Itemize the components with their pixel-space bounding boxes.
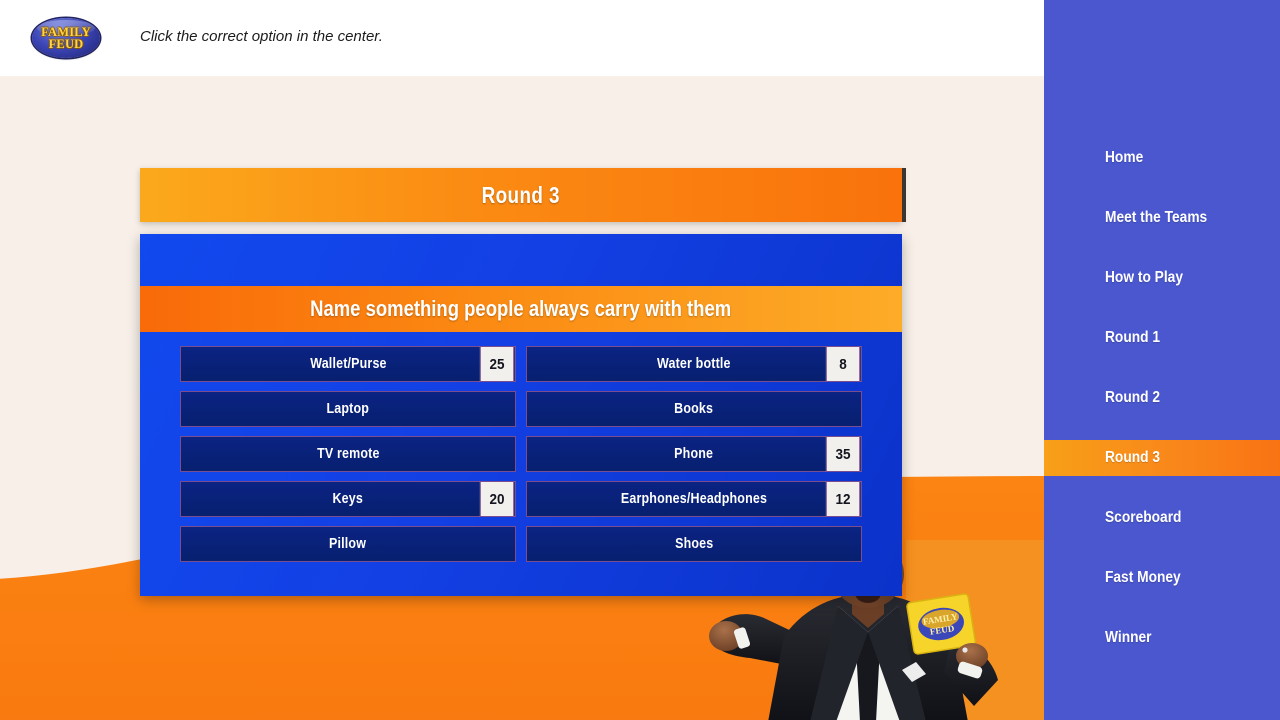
answer-label: Water bottle — [657, 356, 731, 372]
answer-score: 8 — [826, 346, 860, 382]
sidebar-gap — [1044, 236, 1280, 260]
answer-label: TV remote — [317, 446, 380, 462]
sidebar-item-scoreboard[interactable]: Scoreboard — [1044, 500, 1280, 536]
answer-score: 25 — [480, 346, 514, 382]
answers-grid: Wallet/Purse 25 Water bottle 8 Laptop Bo… — [140, 332, 902, 562]
answer-label: Laptop — [327, 401, 370, 417]
answer-option[interactable]: Wallet/Purse 25 — [180, 346, 516, 382]
answer-label: Phone — [675, 446, 714, 462]
sidebar-item-label: Meet the Teams — [1105, 209, 1207, 227]
sidebar-item-meet-the-teams[interactable]: Meet the Teams — [1044, 200, 1280, 236]
sidebar-item-how-to-play[interactable]: How to Play — [1044, 260, 1280, 296]
answer-label: Shoes — [675, 536, 713, 552]
sidebar-item-fast-money[interactable]: Fast Money — [1044, 560, 1280, 596]
logo-wordmark: FAMILY FEUD — [32, 18, 100, 58]
logo-line-2: FEUD — [49, 38, 84, 50]
answer-option[interactable]: Books — [526, 391, 862, 427]
answer-score: 12 — [826, 481, 860, 517]
answer-option[interactable]: Pillow — [180, 526, 516, 562]
answer-option[interactable]: Phone 35 — [526, 436, 862, 472]
sidebar-gap — [1044, 536, 1280, 560]
question-text: Name something people always carry with … — [310, 296, 731, 322]
sidebar-navigation: Home Meet the Teams How to Play Round 1 … — [1044, 0, 1280, 720]
answer-label: Pillow — [329, 536, 366, 552]
answer-score: 35 — [826, 436, 860, 472]
round-label: Round 3 — [482, 182, 560, 209]
instruction-text: Click the correct option in the center. — [140, 28, 383, 45]
sidebar-item-label: How to Play — [1105, 269, 1183, 287]
sidebar-item-label: Round 2 — [1105, 389, 1160, 407]
sidebar-item-label: Round 1 — [1105, 329, 1160, 347]
answer-label: Wallet/Purse — [310, 356, 386, 372]
answer-label: Earphones/Headphones — [621, 491, 767, 507]
sidebar-item-home[interactable]: Home — [1044, 140, 1280, 176]
sidebar-item-label: Home — [1105, 149, 1143, 167]
sidebar-gap — [1044, 596, 1280, 620]
sidebar-top-spacer — [1044, 0, 1280, 140]
sidebar-item-label: Round 3 — [1105, 449, 1160, 467]
question-bar: Name something people always carry with … — [140, 286, 902, 332]
answer-option[interactable]: Water bottle 8 — [526, 346, 862, 382]
sidebar-gap — [1044, 356, 1280, 380]
sidebar-item-label: Fast Money — [1105, 569, 1181, 587]
sidebar-item-round-2[interactable]: Round 2 — [1044, 380, 1280, 416]
answer-option[interactable]: Keys 20 — [180, 481, 516, 517]
game-board: Round 3 Name something people always car… — [140, 168, 902, 596]
panel-top-spacer — [140, 234, 902, 286]
sidebar-gap — [1044, 416, 1280, 440]
family-feud-logo-icon: FAMILY FEUD — [32, 18, 100, 58]
answer-option[interactable]: Earphones/Headphones 12 — [526, 481, 862, 517]
sidebar-item-winner[interactable]: Winner — [1044, 620, 1280, 656]
answer-label: Books — [675, 401, 714, 417]
answer-label: Keys — [333, 491, 364, 507]
main-stage: FAMILY FEUD FAMILY FEUD Click the correc… — [0, 0, 1044, 720]
sidebar-item-label: Scoreboard — [1105, 509, 1181, 527]
sidebar-item-round-3[interactable]: Round 3 — [1044, 440, 1280, 476]
answer-option[interactable]: Shoes — [526, 526, 862, 562]
round-banner: Round 3 — [140, 168, 902, 222]
sidebar-gap — [1044, 476, 1280, 500]
answer-option[interactable]: TV remote — [180, 436, 516, 472]
top-bar: FAMILY FEUD Click the correct option in … — [0, 0, 1044, 76]
sidebar-gap — [1044, 296, 1280, 320]
answer-score: 20 — [480, 481, 514, 517]
question-panel: Name something people always carry with … — [140, 234, 902, 596]
answer-option[interactable]: Laptop — [180, 391, 516, 427]
sidebar-gap — [1044, 176, 1280, 200]
sidebar-item-round-1[interactable]: Round 1 — [1044, 320, 1280, 356]
sidebar-item-label: Winner — [1105, 629, 1152, 647]
